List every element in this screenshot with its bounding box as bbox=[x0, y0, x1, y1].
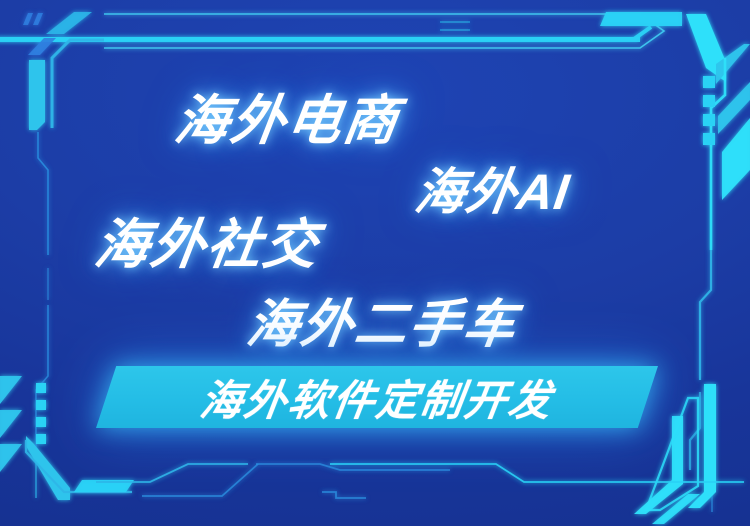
headline-social: 海外社交 bbox=[90, 200, 325, 279]
highlight-banner: 海外软件定制开发 bbox=[96, 366, 658, 428]
banner-label: 海外软件定制开发 bbox=[92, 366, 663, 428]
headline-ai: 海外AI bbox=[411, 152, 575, 224]
headline-used-car: 海外二手车 bbox=[243, 282, 524, 357]
headline-ecommerce: 海外电商 bbox=[170, 76, 405, 155]
headline-group: 海外电商 海外AI 海外社交 海外二手车 bbox=[0, 0, 750, 526]
poster-canvas: 海外电商 海外AI 海外社交 海外二手车 海外软件定制开发 bbox=[0, 0, 750, 526]
